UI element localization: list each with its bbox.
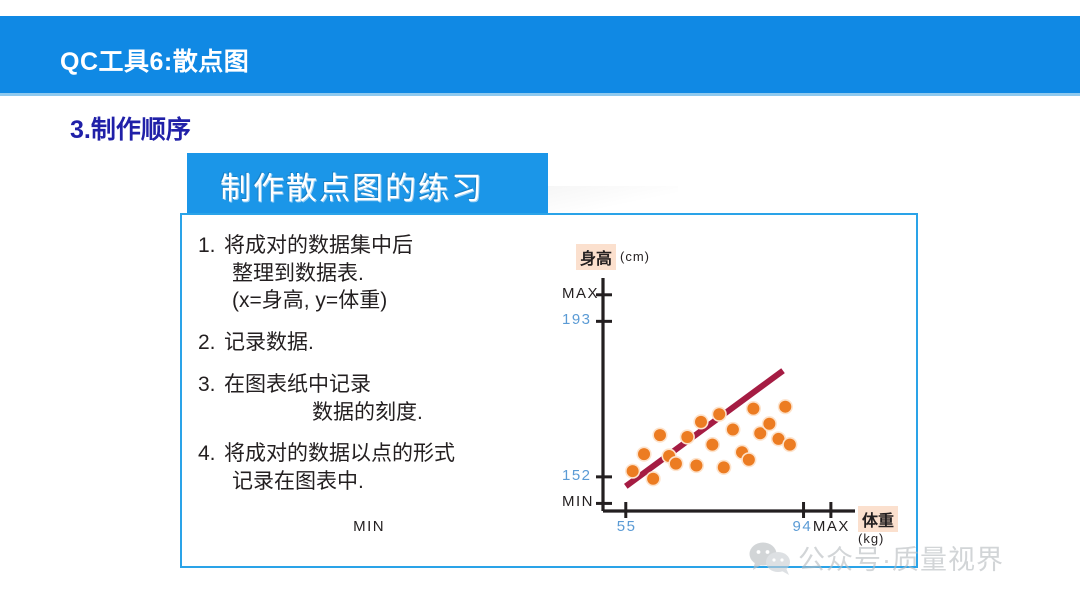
scatter-point [725,422,740,437]
scatter-point [625,464,640,479]
scatter-point [762,416,777,431]
scatter-point [636,447,651,462]
y-axis-unit: (cm) [620,249,650,264]
header-underline [0,93,1080,96]
x-axis-unit: (kg) [858,531,884,546]
step-line: 在图表纸中记录 [224,371,518,399]
steps-list: 1.将成对的数据集中后整理到数据表.(x=身高, y=体重)2.记录数据.3.在… [198,232,518,510]
y-tick-label: 193 [562,311,592,328]
scatter-point [712,407,727,422]
step-line: (x=身高, y=体重) [224,287,518,315]
scatter-chart: 身高 (cm) 体重 (kg) MAX193152MINMIN5594MAX [540,236,920,566]
step-item: 1.将成对的数据集中后整理到数据表.(x=身高, y=体重) [198,232,518,315]
scatter-point [746,401,761,416]
step-item: 2.记录数据. [198,329,518,357]
section-heading: 3.制作顺序 [70,110,191,146]
step-line: 将成对的数据以点的形式 [224,440,518,468]
step-text: 将成对的数据以点的形式记录在图表中. [224,440,518,495]
step-line: 将成对的数据集中后 [224,232,518,260]
x-tick-label: 94 [793,518,813,535]
scatter-point [705,437,720,452]
y-tick-label: 152 [562,467,592,484]
x-tick-label: 55 [617,518,637,535]
step-item: 3.在图表纸中记录数据的刻度. [198,371,518,426]
y-axis-label: 身高 [576,244,616,270]
y-tick-label: MAX [562,285,599,302]
step-text: 在图表纸中记录数据的刻度. [224,371,518,426]
scatter-point [646,471,661,486]
y-tick-label: MIN [562,493,594,510]
scatter-point [741,452,756,467]
step-text: 记录数据. [224,329,518,357]
step-item: 4.将成对的数据以点的形式记录在图表中. [198,440,518,495]
step-line: 整理到数据表. [224,260,518,288]
step-number: 2. [198,329,224,357]
banner-shadow [548,186,678,213]
step-number: 1. [198,232,224,315]
step-line: 记录数据. [224,329,518,357]
scatter-point [689,458,704,473]
scatter-point [716,460,731,475]
scatter-point [668,456,683,471]
step-line: 记录在图表中. [224,468,518,496]
step-line: 数据的刻度. [224,399,518,427]
x-tick-label: MIN [353,518,385,535]
step-number: 4. [198,440,224,495]
x-axis-label: 体重 [858,506,898,532]
step-number: 3. [198,371,224,426]
scatter-point [782,437,797,452]
scatter-point [680,429,695,444]
x-tick-label: MAX [813,518,850,535]
page-title: QC工具6:散点图 [60,42,249,78]
step-text: 将成对的数据集中后整理到数据表.(x=身高, y=体重) [224,232,518,315]
scatter-point [778,399,793,414]
scatter-point [693,414,708,429]
card-banner-title: 制作散点图的练习 [220,163,484,208]
scatter-point [652,428,667,443]
